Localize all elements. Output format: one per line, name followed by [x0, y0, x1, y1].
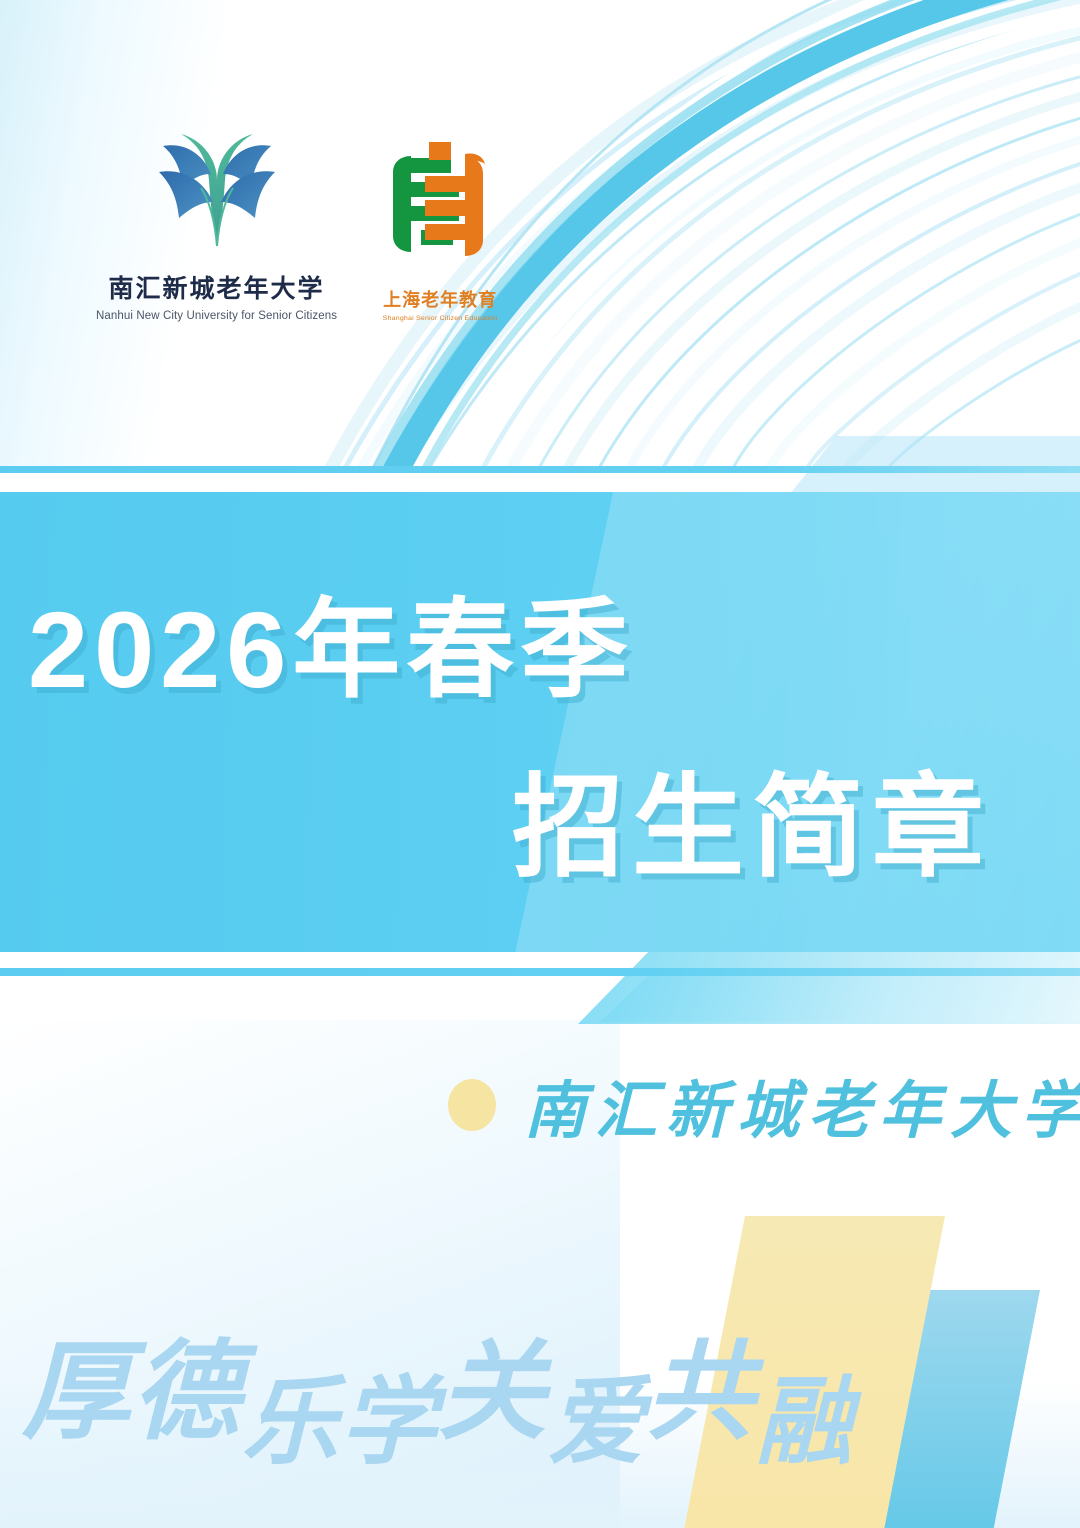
slogan-seg-6: 融 [756, 1369, 854, 1476]
slogan-seg-4: 爱 [548, 1369, 646, 1476]
yellow-dot-bullet-icon [448, 1079, 496, 1131]
logo-nanhui: 南汇新城老年大学 Nanhui New City University for … [96, 118, 337, 322]
band-top-stripe [0, 466, 1080, 473]
logo-shanghai-name-en: Shanghai Senior Citizen Education [383, 315, 498, 321]
subtitle-school-name: 南汇新城老年大学 [524, 1060, 1080, 1150]
fountain-plant-logo-icon [137, 118, 297, 263]
logo-shanghai-name-cn: 上海老年教育 [383, 286, 497, 312]
headline-year-season: 2026年春季 [28, 596, 634, 704]
slogan-seg-5: 共 [646, 1334, 756, 1453]
subtitle-row: 南汇新城老年大学 [448, 1060, 1080, 1150]
band-bottom-stripe [0, 968, 1080, 976]
logo-shanghai: 上海老年教育 Shanghai Senior Citizen Education [379, 136, 501, 322]
slogan-seg-3: 关 [438, 1334, 548, 1453]
logo-nanhui-name-en: Nanhui New City University for Senior Ci… [96, 310, 337, 322]
poster-canvas: 南汇新城老年大学 Nanhui New City University for … [0, 0, 1080, 1528]
interlocking-blocks-logo-icon [379, 136, 501, 281]
band-top-right-trapezoid [790, 436, 1080, 494]
headline-admissions-guide: 招生简章 [512, 772, 992, 884]
logo-nanhui-name-cn: 南汇新城老年大学 [109, 269, 325, 305]
logo-row: 南汇新城老年大学 Nanhui New City University for … [96, 118, 501, 322]
band-bottom-right-trapezoid-2 [600, 976, 1080, 1022]
slogan-seg-1: 厚德 [22, 1334, 242, 1453]
slogan-text: 厚德乐学关爱共融 [22, 1340, 854, 1448]
slogan-seg-2: 乐学 [242, 1369, 438, 1476]
